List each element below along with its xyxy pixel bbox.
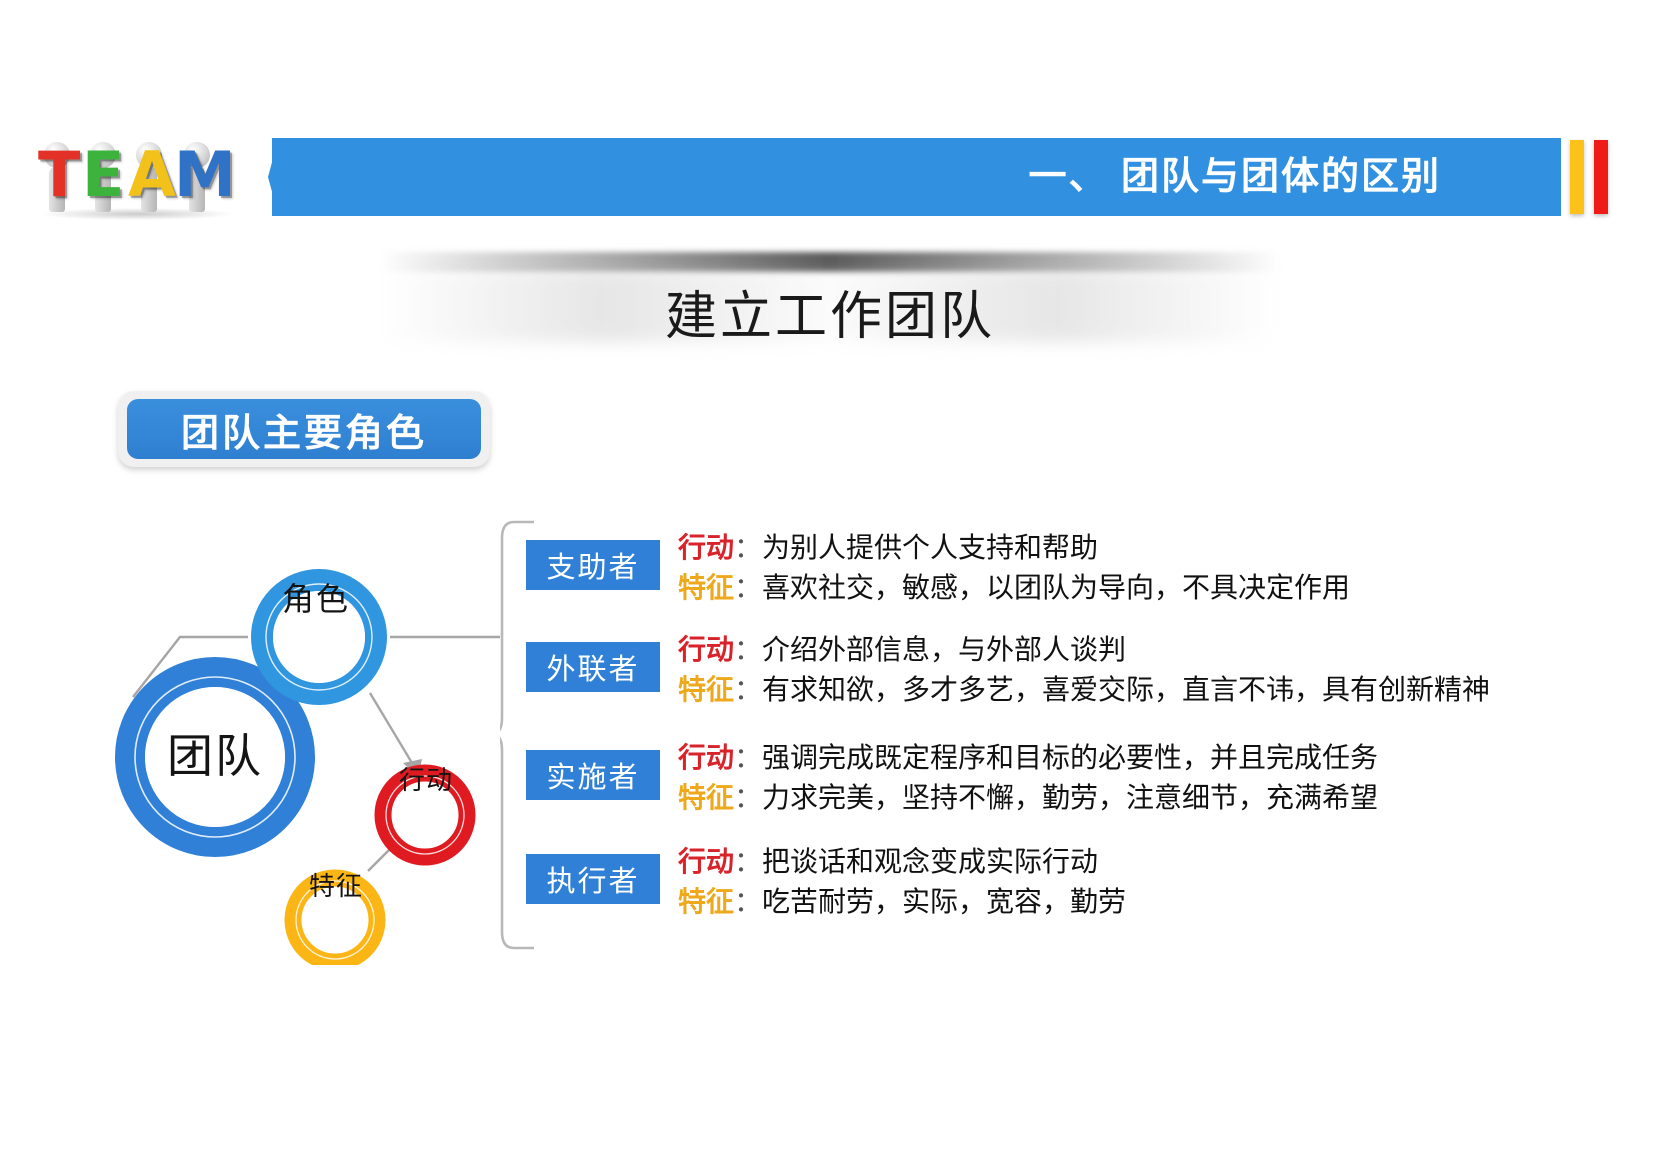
role-chip-3[interactable]: 实施者 xyxy=(526,750,660,800)
colon-3a: ： xyxy=(734,742,762,773)
role-action-text: 强调完成既定程序和目标的必要性，并且完成任务 xyxy=(762,742,1378,773)
role-action-line: 行动：把谈话和观念变成实际行动 xyxy=(678,842,1556,882)
colon-1a: ： xyxy=(734,532,762,563)
role-detail-3: 行动：强调完成既定程序和目标的必要性，并且完成任务 特征：力求完美，坚持不懈，勤… xyxy=(678,738,1556,818)
action-key-label: 行动 xyxy=(678,634,734,665)
diagram-node-role-fill xyxy=(273,591,365,683)
role-detail-2: 行动：介绍外部信息，与外部人谈判 特征：有求知欲，多才多艺，喜爱交际，直言不讳，… xyxy=(678,630,1556,710)
role-trait-text: 力求完美，坚持不懈，勤劳，注意细节，充满希望 xyxy=(762,782,1378,813)
colon-1b: ： xyxy=(734,572,762,603)
section-tag: 团队主要角色 xyxy=(118,391,490,467)
role-detail-4: 行动：把谈话和观念变成实际行动 特征：吃苦耐劳，实际，宽容，勤劳 xyxy=(678,842,1556,922)
role-action-text: 为别人提供个人支持和帮助 xyxy=(762,532,1098,563)
diagram-node-trait-fill xyxy=(302,887,368,953)
role-row[interactable]: 支助者 行动：为别人提供个人支持和帮助 特征：喜欢社交，敏感，以团队为导向，不具… xyxy=(526,528,1556,614)
trait-key-label: 特征 xyxy=(678,674,734,705)
diagram-node-action-fill xyxy=(392,782,458,848)
role-trait-line: 特征：力求完美，坚持不懈，勤劳，注意细节，充满希望 xyxy=(678,778,1556,818)
role-trait-text: 吃苦耐劳，实际，宽容，勤劳 xyxy=(762,886,1126,917)
trait-key-label: 特征 xyxy=(678,572,734,603)
trait-key-label: 特征 xyxy=(678,782,734,813)
action-key-label: 行动 xyxy=(678,846,734,877)
subtitle-text: 建立工作团队 xyxy=(380,274,1280,349)
action-key-label: 行动 xyxy=(678,742,734,773)
role-action-text: 介绍外部信息，与外部人谈判 xyxy=(762,634,1126,665)
role-trait-line: 特征：有求知欲，多才多艺，喜爱交际，直言不讳，具有创新精神 xyxy=(678,670,1556,710)
role-action-text: 把谈话和观念变成实际行动 xyxy=(762,846,1098,877)
colon-2a: ： xyxy=(734,634,762,665)
role-chip-4[interactable]: 执行者 xyxy=(526,854,660,904)
header-accent-stripe-red xyxy=(1594,140,1608,214)
role-row[interactable]: 执行者 行动：把谈话和观念变成实际行动 特征：吃苦耐劳，实际，宽容，勤劳 xyxy=(526,842,1556,928)
diagram-svg xyxy=(70,515,500,965)
action-key-label: 行动 xyxy=(678,532,734,563)
role-list: 支助者 行动：为别人提供个人支持和帮助 特征：喜欢社交，敏感，以团队为导向，不具… xyxy=(500,520,1560,950)
connector-role-to-action xyxy=(370,693,418,773)
section-tag-label: 团队主要角色 xyxy=(127,399,481,459)
role-trait-line: 特征：吃苦耐劳，实际，宽容，勤劳 xyxy=(678,882,1556,922)
subtitle-banner: 建立工作团队 xyxy=(380,252,1280,362)
role-chip-2[interactable]: 外联者 xyxy=(526,642,660,692)
role-row[interactable]: 实施者 行动：强调完成既定程序和目标的必要性，并且完成任务 特征：力求完美，坚持… xyxy=(526,738,1556,824)
diagram-node-team-fill xyxy=(145,687,285,827)
colon-4a: ： xyxy=(734,846,762,877)
role-action-line: 行动：为别人提供个人支持和帮助 xyxy=(678,528,1556,568)
header-accent-stripe-yellow xyxy=(1570,140,1584,214)
role-row[interactable]: 外联者 行动：介绍外部信息，与外部人谈判 特征：有求知欲，多才多艺，喜爱交际，直… xyxy=(526,630,1556,716)
header-banner: 一、 团队与团体的区别 xyxy=(0,138,1653,216)
role-action-line: 行动：强调完成既定程序和目标的必要性，并且完成任务 xyxy=(678,738,1556,778)
role-detail-1: 行动：为别人提供个人支持和帮助 特征：喜欢社交，敏感，以团队为导向，不具决定作用 xyxy=(678,528,1556,608)
role-trait-text: 喜欢社交，敏感，以团队为导向，不具决定作用 xyxy=(762,572,1350,603)
slide-canvas: T E A M 一、 团队与团体的区别 建立工作团队 团队主要角色 xyxy=(0,0,1653,1168)
header-bar: 一、 团队与团体的区别 xyxy=(272,138,1561,216)
colon-2b: ： xyxy=(734,674,762,705)
role-trait-text: 有求知欲，多才多艺，喜爱交际，直言不讳，具有创新精神 xyxy=(762,674,1490,705)
role-action-line: 行动：介绍外部信息，与外部人谈判 xyxy=(678,630,1556,670)
role-trait-line: 特征：喜欢社交，敏感，以团队为导向，不具决定作用 xyxy=(678,568,1556,608)
trait-key-label: 特征 xyxy=(678,886,734,917)
colon-3b: ： xyxy=(734,782,762,813)
header-title: 一、 团队与团体的区别 xyxy=(1028,138,1441,216)
subtitle-shadow-bar xyxy=(380,252,1280,272)
colon-4b: ： xyxy=(734,886,762,917)
role-chip-1[interactable]: 支助者 xyxy=(526,540,660,590)
role-diagram: 团队 角色 行动 特征 xyxy=(70,515,500,965)
